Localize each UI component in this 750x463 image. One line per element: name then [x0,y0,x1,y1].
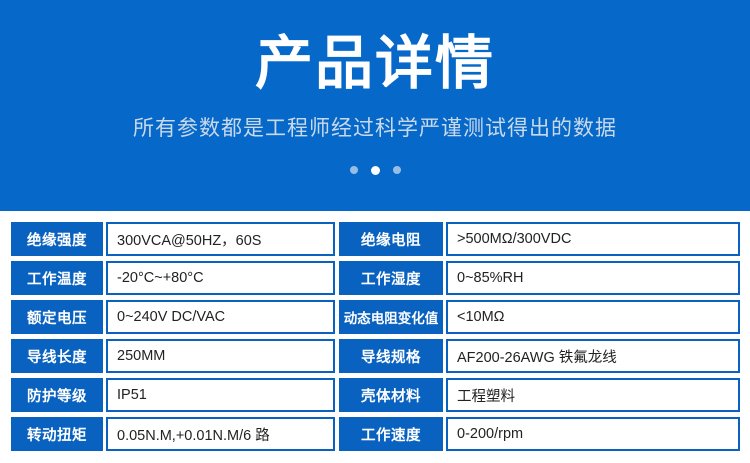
spec-value-working-speed: 0-200/rpm [446,417,740,451]
carousel-dots[interactable] [0,164,750,176]
spec-value-insulation-resistance: >500MΩ/300VDC [446,222,740,256]
hero-banner: 产品详情 所有参数都是工程师经过科学严谨测试得出的数据 [0,0,750,211]
table-row: 额定电压 0~240V DC/VAC 动态电阻变化值 <10MΩ [11,300,740,334]
spec-value-working-humidity: 0~85%RH [446,261,740,295]
spec-label-insulation-resistance: 绝缘电阻 [339,222,443,256]
carousel-dot-1[interactable] [350,166,358,174]
spec-value-rotating-torque: 0.05N.M,+0.01N.M/6 路 [106,417,335,451]
spec-label-wire-length: 导线长度 [11,339,103,373]
spec-label-rated-voltage: 额定电压 [11,300,103,334]
spec-value-working-temperature: -20°C~+80°C [106,261,335,295]
spec-label-wire-specification: 导线规格 [339,339,443,373]
spec-label-dynamic-resistance-variation: 动态电阻变化值 [339,300,443,334]
table-row: 导线长度 250MM 导线规格 AF200-26AWG 铁氟龙线 [11,339,740,373]
spec-label-working-temperature: 工作温度 [11,261,103,295]
page-title: 产品详情 [0,26,750,102]
spec-value-rated-voltage: 0~240V DC/VAC [106,300,335,334]
spec-label-working-humidity: 工作湿度 [339,261,443,295]
spec-label-rotating-torque: 转动扭矩 [11,417,103,451]
spec-label-insulation-strength: 绝缘强度 [11,222,103,256]
spec-label-protection-grade: 防护等级 [11,378,103,412]
table-row: 转动扭矩 0.05N.M,+0.01N.M/6 路 工作速度 0-200/rpm [11,417,740,451]
specification-table: 绝缘强度 300VCA@50HZ，60S 绝缘电阻 >500MΩ/300VDC … [11,222,740,451]
spec-value-housing-material: 工程塑料 [446,378,740,412]
page-subtitle: 所有参数都是工程师经过科学严谨测试得出的数据 [0,112,750,146]
spec-label-housing-material: 壳体材料 [339,378,443,412]
table-row: 绝缘强度 300VCA@50HZ，60S 绝缘电阻 >500MΩ/300VDC [11,222,740,256]
spec-value-wire-specification: AF200-26AWG 铁氟龙线 [446,339,740,373]
spec-value-insulation-strength: 300VCA@50HZ，60S [106,222,335,256]
spec-value-dynamic-resistance-variation: <10MΩ [446,300,740,334]
table-row: 工作温度 -20°C~+80°C 工作湿度 0~85%RH [11,261,740,295]
product-detail-page: 产品详情 所有参数都是工程师经过科学严谨测试得出的数据 绝缘强度 300VCA@… [0,0,750,463]
carousel-dot-3[interactable] [393,166,401,174]
spec-value-wire-length: 250MM [106,339,335,373]
carousel-dot-2[interactable] [371,166,380,175]
table-row: 防护等级 IP51 壳体材料 工程塑料 [11,378,740,412]
spec-value-protection-grade: IP51 [106,378,335,412]
spec-label-working-speed: 工作速度 [339,417,443,451]
